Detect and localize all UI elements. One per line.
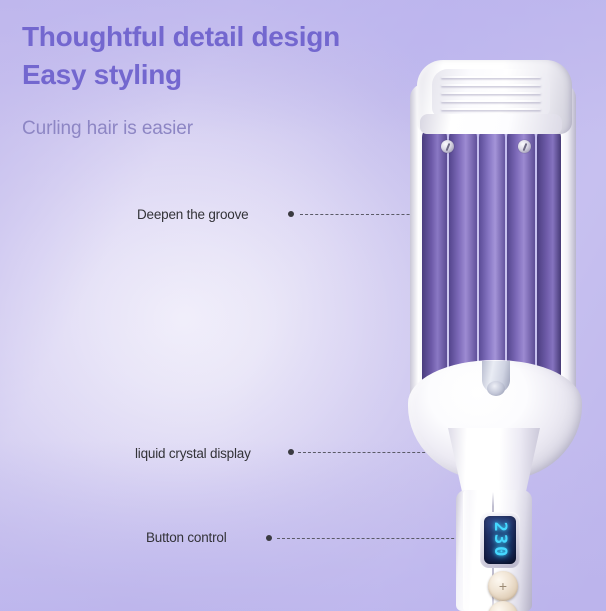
barrel-screw <box>518 140 531 153</box>
lcd-display: 230 <box>484 516 516 564</box>
callout-label-deepen-the-groove: Deepen the groove <box>137 207 248 222</box>
callout-dot-button-control <box>266 535 272 541</box>
page-subtitle: Curling hair is easier <box>22 118 193 140</box>
plus-icon: + <box>488 571 518 601</box>
barrel-screw <box>441 140 454 153</box>
hair-curler-product-image: 230 + − <box>404 60 606 611</box>
lcd-temperature-value: 230 <box>490 522 510 559</box>
increase-temperature-button[interactable]: + <box>488 571 518 601</box>
device-hinge-knob <box>487 381 505 396</box>
product-detail-banner: Thoughtful detail design Easy styling Cu… <box>0 0 606 611</box>
page-title: Thoughtful detail design Easy styling <box>22 18 340 94</box>
minus-icon: − <box>488 601 518 611</box>
device-top-cap-lip <box>420 114 562 134</box>
headline-line-1: Thoughtful detail design <box>22 21 340 52</box>
device-top-cap-pad <box>432 69 550 117</box>
callout-dot-liquid-crystal-display <box>288 449 294 455</box>
headline-line-2: Easy styling <box>22 56 340 94</box>
decrease-temperature-button[interactable]: − <box>488 601 518 611</box>
device-handle-highlight <box>463 490 470 611</box>
callout-label-button-control: Button control <box>146 530 227 545</box>
callout-label-liquid-crystal-display: liquid crystal display <box>135 446 251 461</box>
callout-dot-deepen-the-groove <box>288 211 294 217</box>
